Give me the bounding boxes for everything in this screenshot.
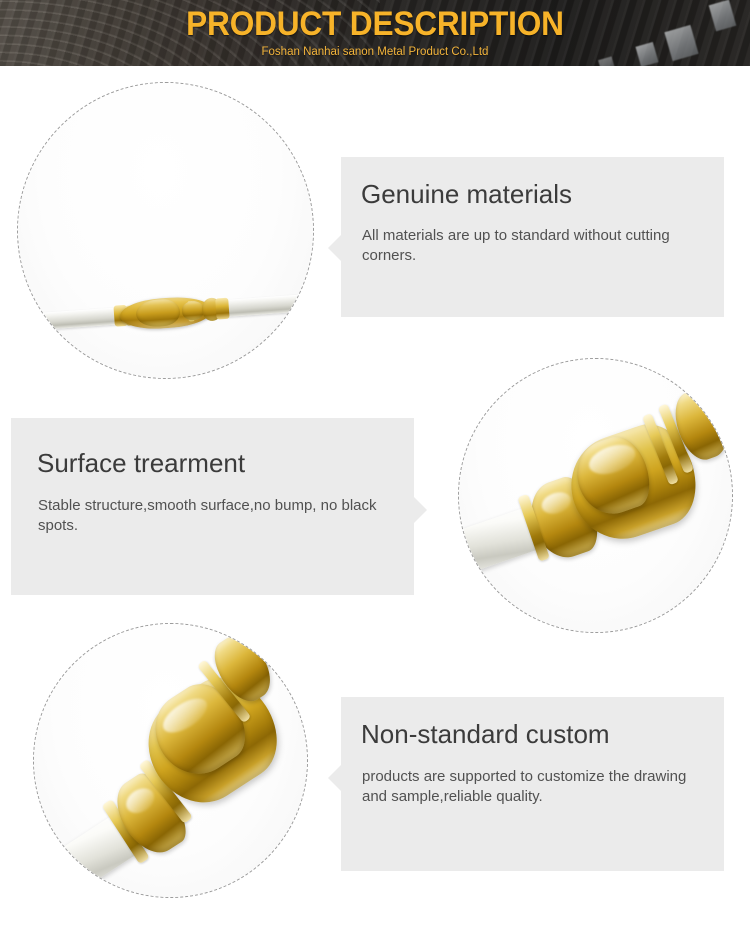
feature-heading: Non-standard custom xyxy=(361,719,610,749)
feature-panel-non-standard-custom: Non-standard custom products are support… xyxy=(341,697,724,871)
product-photo-non-standard-custom xyxy=(33,623,308,898)
product-photo-genuine-materials xyxy=(17,82,314,379)
feature-panel-surface-treatment: Surface trearment Stable structure,smoot… xyxy=(11,418,414,595)
page-header-banner: PRODUCT DESCRIPTION Foshan Nanhai sanon … xyxy=(0,0,750,66)
product-photo-image xyxy=(459,359,732,632)
product-photo-image xyxy=(18,83,313,378)
baluster-illustration xyxy=(35,289,298,335)
feature-body-text: Stable structure,smooth surface,no bump,… xyxy=(38,496,398,536)
panel-pointer-arrow xyxy=(414,497,427,523)
page-title: PRODUCT DESCRIPTION xyxy=(26,4,724,44)
feature-body-text: All materials are up to standard without… xyxy=(362,226,707,266)
product-photo-image xyxy=(34,624,307,897)
baluster-closeup-illustration xyxy=(459,359,732,632)
feature-heading: Surface trearment xyxy=(37,448,245,478)
panel-pointer-arrow xyxy=(328,235,341,261)
product-photo-surface-treatment xyxy=(458,358,733,633)
baluster-closeup-illustration xyxy=(34,624,307,897)
panel-pointer-arrow xyxy=(328,765,341,791)
gold-collar xyxy=(215,298,229,320)
feature-panel-genuine-materials: Genuine materials All materials are up t… xyxy=(341,157,724,317)
feature-body-text: products are supported to customize the … xyxy=(362,767,710,807)
feature-heading: Genuine materials xyxy=(361,179,572,209)
company-name: Foshan Nanhai sanon Metal Product Co.,Lt… xyxy=(0,45,750,59)
